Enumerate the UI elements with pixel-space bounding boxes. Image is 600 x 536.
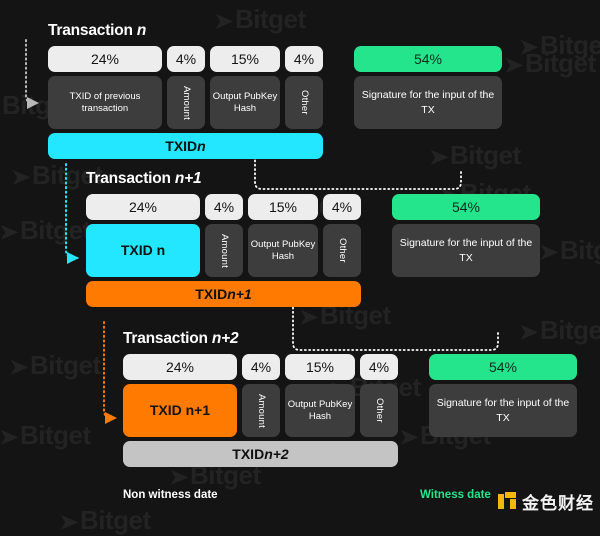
percent-chip[interactable]: 4% <box>323 194 361 220</box>
bitget-swirl-icon: ➤ <box>59 510 78 535</box>
watermark-bitget: ➤Bitget <box>0 420 91 451</box>
field-row: TXID nAmountOutput PubKey HashOtherSigna… <box>86 224 545 277</box>
watermark-text: Bitget <box>20 215 91 245</box>
connector-txid-n1-to-tx-n2 <box>104 322 116 418</box>
percent-chip[interactable]: 4% <box>242 354 280 380</box>
watermark-text: Bitget <box>560 235 600 265</box>
transaction-title-prefix: Transaction <box>86 170 175 187</box>
percent-chip[interactable]: 4% <box>285 46 323 72</box>
field-row: TXID n+1AmountOutput PubKey HashOtherSig… <box>123 384 582 437</box>
txid-bar[interactable]: TXID n+2 <box>123 441 398 467</box>
txid-bar-index: n <box>197 138 206 154</box>
tx-field-label: Output PubKey Hash <box>250 239 316 262</box>
tx-field-label: TXID n <box>121 242 165 259</box>
txid-bar-prefix: TXID <box>165 138 197 154</box>
tx-field-label: Amount <box>180 86 192 120</box>
tx-field-vertical[interactable]: Other <box>360 384 398 437</box>
bitget-swirl-icon: ➤ <box>169 465 188 490</box>
tx-field-box[interactable]: TXID of previous transaction <box>48 76 162 129</box>
section-gap <box>328 76 354 129</box>
tx-field-label: TXID n+1 <box>150 402 210 419</box>
percent-chip[interactable]: 4% <box>205 194 243 220</box>
watermark-text: Bitget <box>80 505 151 535</box>
tx-field-label: Amount <box>218 234 230 268</box>
txid-bar-index: n+1 <box>227 286 252 302</box>
tx-field-vertical[interactable]: Other <box>323 224 361 277</box>
txid-bar-index: n+2 <box>264 446 289 462</box>
watermark-bitget: ➤Bitget <box>540 235 600 266</box>
connector-txid-n-to-tx-n1 <box>66 164 78 258</box>
tx-field-box[interactable]: Output PubKey Hash <box>285 384 355 437</box>
diagram-canvas: ➤Bitget➤Bitget➤Bitget➤Bitget➤Bitget➤Bitg… <box>0 0 600 524</box>
watermark-text: Bitget <box>540 30 600 60</box>
percent-chip[interactable]: 24% <box>48 46 162 72</box>
legend-witness: Witness date <box>420 489 491 501</box>
bitget-swirl-icon: ➤ <box>0 220 18 245</box>
connector-input-tx-n <box>26 40 38 103</box>
witness-percent-chip[interactable]: 54% <box>354 46 502 72</box>
tx-field-vertical[interactable]: Amount <box>205 224 243 277</box>
witness-signature-box[interactable]: Signature for the input of the TX <box>429 384 577 437</box>
percent-chip[interactable]: 15% <box>210 46 280 72</box>
section-gap <box>403 384 429 437</box>
tx-field-label: Output PubKey Hash <box>212 91 278 114</box>
txid-bar-prefix: TXID <box>195 286 227 302</box>
percent-row: 24%4%15%4%54% <box>48 46 507 72</box>
percent-chip[interactable]: 4% <box>167 46 205 72</box>
section-gap <box>366 194 392 220</box>
tx-field-box[interactable]: Output PubKey Hash <box>210 76 280 129</box>
percent-chip[interactable]: 24% <box>86 194 200 220</box>
watermark-text: Bitget <box>20 420 91 450</box>
percent-row: 24%4%15%4%54% <box>86 194 545 220</box>
transaction-title-index: n <box>137 22 146 39</box>
transaction-title-index: n+1 <box>175 170 202 187</box>
tx-field-label: TXID of previous transaction <box>50 91 160 114</box>
bitget-swirl-icon: ➤ <box>9 355 28 380</box>
bitget-swirl-icon: ➤ <box>0 425 18 450</box>
watermark-bitget: ➤Bitget <box>10 350 101 381</box>
percent-chip[interactable]: 15% <box>285 354 355 380</box>
tx-field-label: Other <box>373 398 385 423</box>
transaction-title: Transaction n+2 <box>123 330 582 348</box>
tx-field-label: Output PubKey Hash <box>287 399 353 422</box>
brand-logo: 金色财经 <box>498 489 594 514</box>
watermark-bitget: ➤Bitget <box>0 215 91 246</box>
witness-percent-chip[interactable]: 54% <box>392 194 540 220</box>
transaction-title-prefix: Transaction <box>123 330 212 347</box>
tx-field-label: Other <box>298 90 310 115</box>
percent-chip[interactable]: 24% <box>123 354 237 380</box>
tx-field-vertical[interactable]: Other <box>285 76 323 129</box>
bitget-swirl-icon: ➤ <box>11 165 30 190</box>
section-gap <box>403 354 429 380</box>
watermark-bitget: ➤Bitget <box>60 505 151 536</box>
watermark-bitget: ➤Bitget <box>520 30 600 61</box>
transaction-group: Transaction n+224%4%15%4%54%TXID n+1Amou… <box>123 330 582 467</box>
watermark-text: Bitget <box>525 48 596 78</box>
field-row: TXID of previous transactionAmountOutput… <box>48 76 507 129</box>
transaction-title: Transaction n+1 <box>86 170 545 188</box>
tx-field-box[interactable]: TXID n <box>86 224 200 277</box>
tx-field-label: Other <box>336 238 348 263</box>
jinse-mark-icon <box>498 492 517 511</box>
percent-chip[interactable]: 15% <box>248 194 318 220</box>
txid-bar[interactable]: TXID n <box>48 133 323 159</box>
witness-percent-chip[interactable]: 54% <box>429 354 577 380</box>
witness-signature-box[interactable]: Signature for the input of the TX <box>354 76 502 129</box>
bitget-swirl-icon: ➤ <box>519 35 538 60</box>
tx-field-vertical[interactable]: Amount <box>167 76 205 129</box>
tx-field-box[interactable]: Output PubKey Hash <box>248 224 318 277</box>
txid-bar[interactable]: TXID n+1 <box>86 281 361 307</box>
watermark-text: Bitget <box>30 350 101 380</box>
section-gap <box>366 224 392 277</box>
legend-non-witness: Non witness date <box>123 489 218 501</box>
bitget-swirl-icon: ➤ <box>299 305 318 330</box>
watermark-bitget: ➤Bitget <box>505 48 596 79</box>
tx-field-label: Amount <box>255 394 267 428</box>
tx-field-box[interactable]: TXID n+1 <box>123 384 237 437</box>
txid-bar-prefix: TXID <box>232 446 264 462</box>
percent-row: 24%4%15%4%54% <box>123 354 582 380</box>
transaction-group: Transaction n+124%4%15%4%54%TXID nAmount… <box>86 170 545 307</box>
transaction-title-prefix: Transaction <box>48 22 137 39</box>
percent-chip[interactable]: 4% <box>360 354 398 380</box>
tx-field-vertical[interactable]: Amount <box>242 384 280 437</box>
transaction-title-index: n+2 <box>212 330 239 347</box>
transaction-title: Transaction n <box>48 22 507 40</box>
witness-signature-box[interactable]: Signature for the input of the TX <box>392 224 540 277</box>
brand-logo-text: 金色财经 <box>522 489 594 514</box>
transaction-group: Transaction n24%4%15%4%54%TXID of previo… <box>48 22 507 159</box>
section-gap <box>328 46 354 72</box>
